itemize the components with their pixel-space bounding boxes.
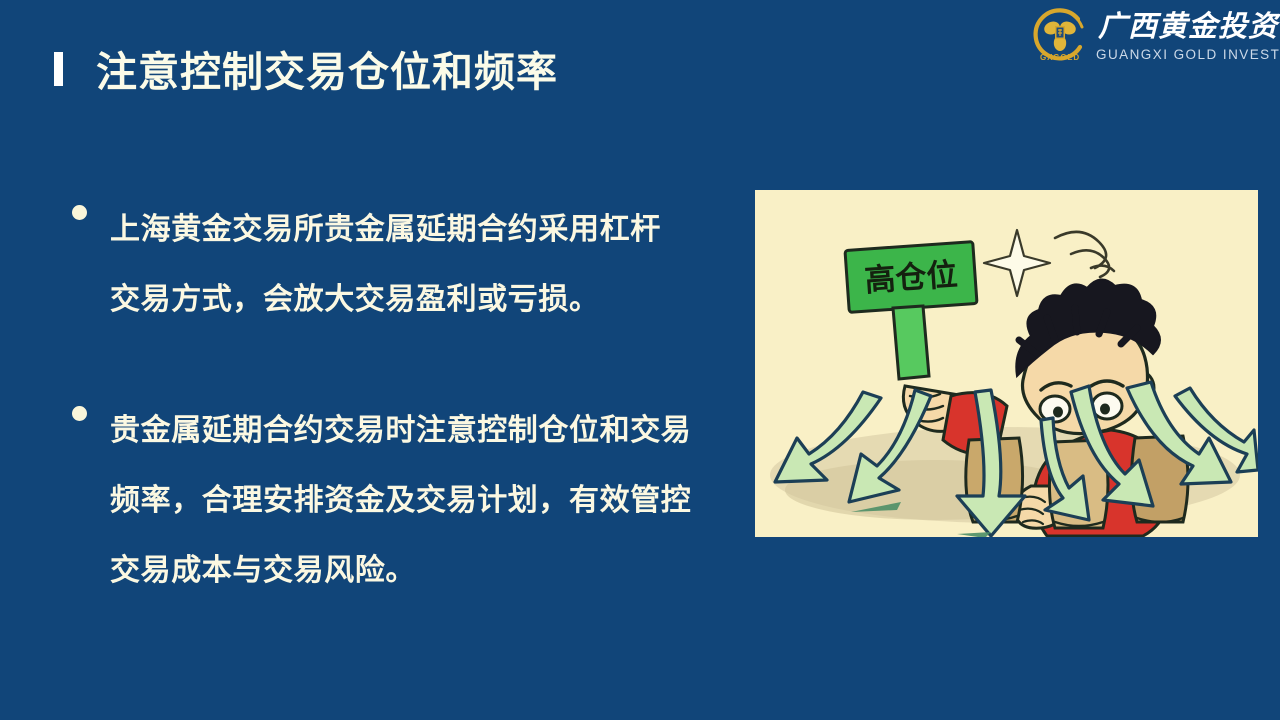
brand-logo: GXGOLD 广西黄金投资 GUANGXI GOLD INVESTMENT bbox=[1028, 4, 1276, 70]
page-title-text: 注意控制交易仓位和频率 bbox=[96, 44, 558, 100]
bullet-text: 贵金属延期合约交易时注意控制仓位和交易 频率，合理安排资金及交易计划，有效管控 … bbox=[110, 396, 810, 606]
gxgold-circle-logo-icon: GXGOLD bbox=[1030, 7, 1090, 67]
bullet-item: 贵金属延期合约交易时注意控制仓位和交易 频率，合理安排资金及交易计划，有效管控 … bbox=[72, 396, 810, 606]
bullet-dot-icon bbox=[72, 205, 87, 220]
bullet-line: 贵金属延期合约交易时注意控制仓位和交易 bbox=[110, 396, 810, 466]
slide-canvas: GXGOLD 广西黄金投资 GUANGXI GOLD INVESTMENT 注意… bbox=[0, 0, 1280, 720]
brand-name-en: GUANGXI GOLD INVESTMENT bbox=[1096, 47, 1280, 63]
bullet-item: 上海黄金交易所贵金属延期合约采用杠杆 交易方式，会放大交易盈利或亏损。 bbox=[72, 195, 810, 335]
title-accent-bar-icon bbox=[54, 52, 63, 86]
bullet-line: 交易成本与交易风险。 bbox=[110, 536, 810, 606]
sign-text: 高仓位 bbox=[863, 257, 958, 299]
brand-name-cn: 广西黄金投资 bbox=[1098, 8, 1278, 44]
logo-mark-text: GXGOLD bbox=[1040, 53, 1080, 62]
bullet-line: 频率，合理安排资金及交易计划，有效管控 bbox=[110, 466, 810, 536]
illustration-image: 高仓位 bbox=[755, 190, 1258, 537]
bullet-dot-icon bbox=[72, 406, 87, 421]
bullet-text: 上海黄金交易所贵金属延期合约采用杠杆 交易方式，会放大交易盈利或亏损。 bbox=[110, 195, 810, 335]
bullet-line: 交易方式，会放大交易盈利或亏损。 bbox=[110, 265, 810, 335]
bullet-line: 上海黄金交易所贵金属延期合约采用杠杆 bbox=[110, 195, 810, 265]
